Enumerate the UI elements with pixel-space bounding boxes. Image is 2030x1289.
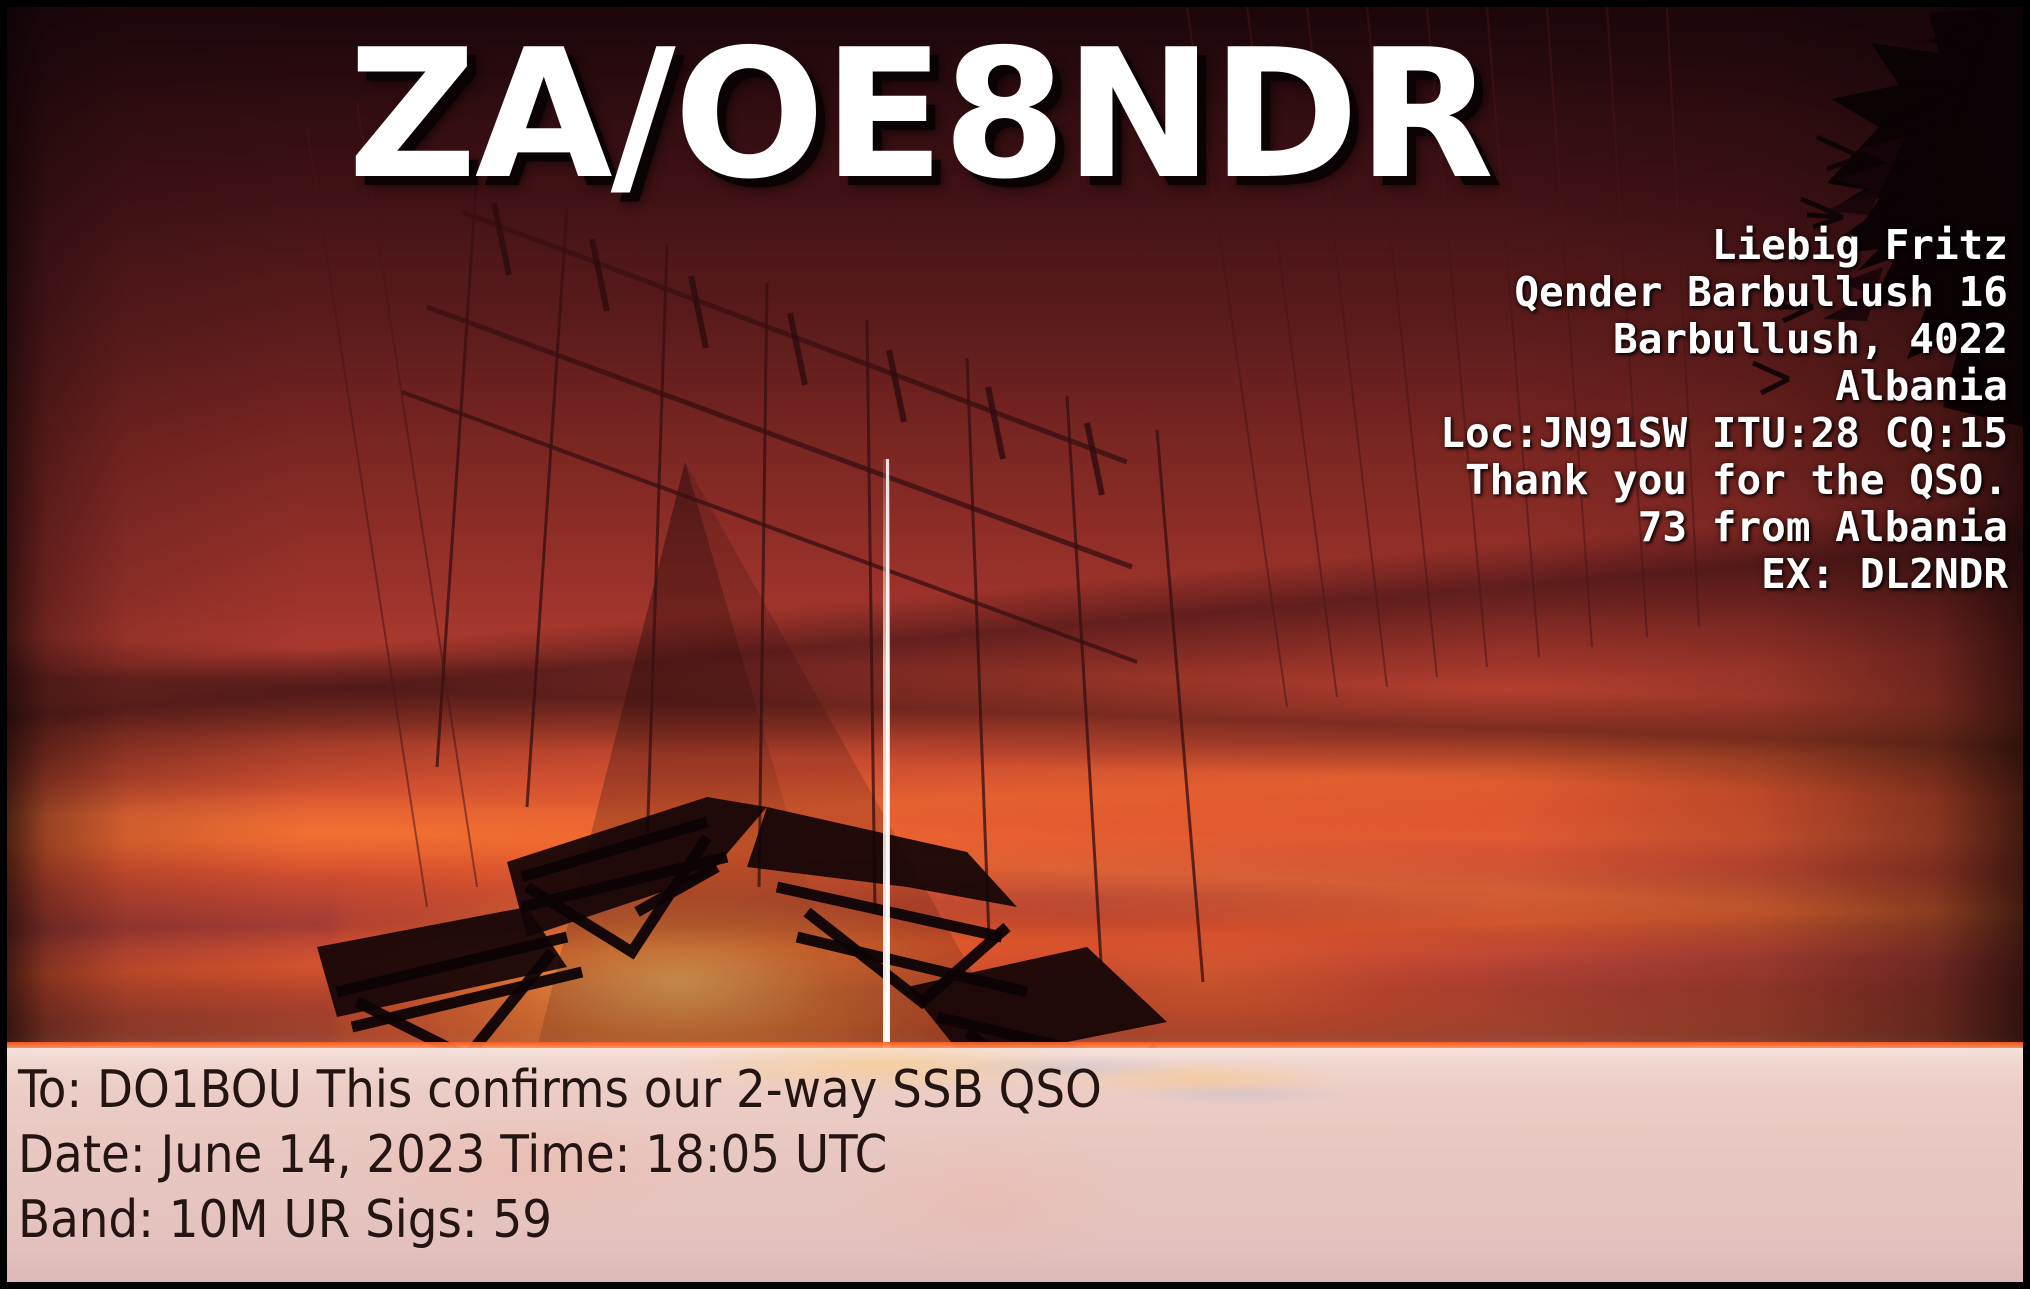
operator-greeting: Thank you for the QSO. bbox=[1440, 457, 2008, 504]
operator-name: Liebig Fritz bbox=[1440, 222, 2008, 269]
qsl-card: ZA/OE8NDR Liebig Fritz Qender Barbullush… bbox=[0, 0, 2030, 1289]
qso-confirmation-line: To: DO1BOU This confirms our 2-way SSB Q… bbox=[18, 1058, 1102, 1123]
callsign-heading: ZA/OE8NDR bbox=[0, 22, 2030, 209]
qso-details-block: To: DO1BOU This confirms our 2-way SSB Q… bbox=[18, 1058, 1102, 1253]
operator-former-callsign: EX: DL2NDR bbox=[1440, 551, 2008, 598]
qso-band-report-line: Band: 10M UR Sigs: 59 bbox=[18, 1188, 1102, 1253]
operator-street: Qender Barbullush 16 bbox=[1440, 269, 2008, 316]
operator-info-block: Liebig Fritz Qender Barbullush 16 Barbul… bbox=[1440, 222, 2008, 598]
operator-country: Albania bbox=[1440, 363, 2008, 410]
operator-city-postcode: Barbullush, 4022 bbox=[1440, 316, 2008, 363]
operator-signoff: 73 from Albania bbox=[1440, 504, 2008, 551]
qso-datetime-line: Date: June 14, 2023 Time: 18:05 UTC bbox=[18, 1123, 1102, 1188]
operator-zones: Loc:JN91SW ITU:28 CQ:15 bbox=[1440, 410, 2008, 457]
